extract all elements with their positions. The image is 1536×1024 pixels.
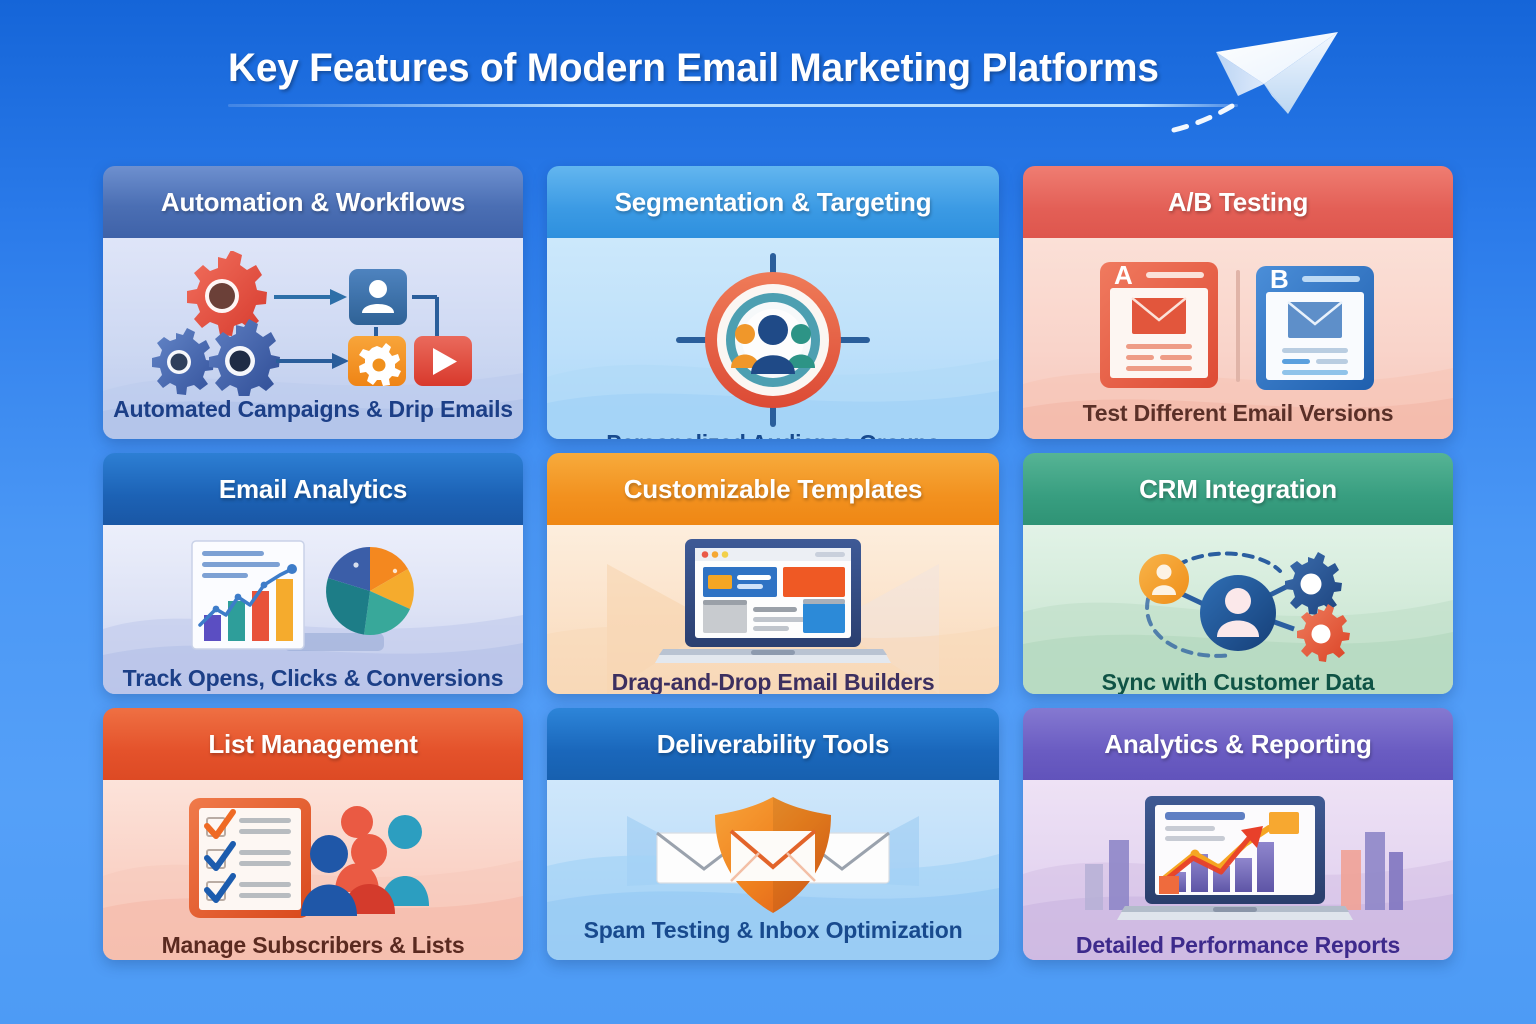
laptop-template-icon <box>655 537 891 669</box>
feature-card-segmentation-targeting[interactable]: Segmentation & Targeting <box>547 166 999 439</box>
paper-plane-icon <box>1168 18 1358 138</box>
card-caption: Detailed Performance Reports <box>1076 932 1400 960</box>
title-underline <box>228 104 1238 107</box>
card-body: Personalized Audience Groups <box>547 238 999 439</box>
variant-b-label: B <box>1270 264 1289 294</box>
card-caption: Track Opens, Clicks & Conversions <box>123 665 504 694</box>
feature-card-automation-workflows[interactable]: Automation & Workflows <box>103 166 523 439</box>
bar-pie-chart-icon <box>188 537 438 665</box>
target-audience-icon <box>673 250 873 430</box>
card-body: Detailed Performance Reports <box>1023 780 1453 960</box>
card-caption: Automated Campaigns & Drip Emails <box>113 396 513 429</box>
workflow-gears-icon <box>148 251 478 396</box>
card-body: A <box>1023 238 1453 439</box>
crm-sync-icon <box>1118 537 1358 669</box>
card-caption: Sync with Customer Data <box>1102 669 1375 694</box>
feature-card-list-management[interactable]: List Management <box>103 708 523 960</box>
feature-card-customizable-templates[interactable]: Customizable Templates <box>547 453 999 694</box>
card-title: Customizable Templates <box>547 453 999 525</box>
card-art <box>547 250 999 430</box>
card-body: Manage Subscribers & Lists <box>103 780 523 960</box>
card-title: List Management <box>103 708 523 780</box>
card-art <box>1023 537 1453 669</box>
feature-card-crm-integration[interactable]: CRM Integration <box>1023 453 1453 694</box>
card-caption: Manage Subscribers & Lists <box>162 932 465 960</box>
card-title: A/B Testing <box>1023 166 1453 238</box>
shield-envelope-icon <box>653 795 893 915</box>
feature-card-analytics-reporting[interactable]: Analytics & Reporting <box>1023 708 1453 960</box>
card-title: Deliverability Tools <box>547 708 999 780</box>
card-art <box>103 250 523 396</box>
card-title: Email Analytics <box>103 453 523 525</box>
page-title-wrap: Key Features of Modern Email Marketing P… <box>228 46 1208 91</box>
card-art <box>547 792 999 917</box>
feature-card-grid: Automation & Workflows <box>103 166 1435 960</box>
card-body: Drag-and-Drop Email Builders <box>547 525 999 694</box>
card-art <box>547 537 999 669</box>
card-caption: Spam Testing & Inbox Optimization <box>584 917 963 950</box>
page-title: Key Features of Modern Email Marketing P… <box>228 46 1179 91</box>
feature-card-ab-testing[interactable]: A/B Testing A <box>1023 166 1453 439</box>
card-caption: Personalized Audience Groups <box>606 430 940 439</box>
ab-compare-icon: A <box>1088 250 1388 400</box>
laptop-report-chart-icon <box>1073 792 1403 932</box>
feature-card-deliverability-tools[interactable]: Deliverability Tools <box>547 708 999 960</box>
card-body: Spam Testing & Inbox Optimization <box>547 780 999 960</box>
card-caption: Test Different Email Versions <box>1083 400 1394 433</box>
card-art <box>103 537 523 665</box>
card-body: Track Opens, Clicks & Conversions <box>103 525 523 694</box>
card-title: Analytics & Reporting <box>1023 708 1453 780</box>
card-body: Sync with Customer Data <box>1023 525 1453 694</box>
card-title: CRM Integration <box>1023 453 1453 525</box>
checklist-people-icon <box>183 792 443 932</box>
card-art: A <box>1023 250 1453 400</box>
card-body: Automated Campaigns & Drip Emails <box>103 238 523 439</box>
variant-a-label: A <box>1114 260 1133 290</box>
card-art <box>103 792 523 932</box>
card-title: Automation & Workflows <box>103 166 523 238</box>
card-caption: Drag-and-Drop Email Builders <box>612 669 935 694</box>
page-header: Key Features of Modern Email Marketing P… <box>0 0 1536 150</box>
card-art <box>1023 792 1453 932</box>
feature-card-email-analytics[interactable]: Email Analytics <box>103 453 523 694</box>
card-title: Segmentation & Targeting <box>547 166 999 238</box>
